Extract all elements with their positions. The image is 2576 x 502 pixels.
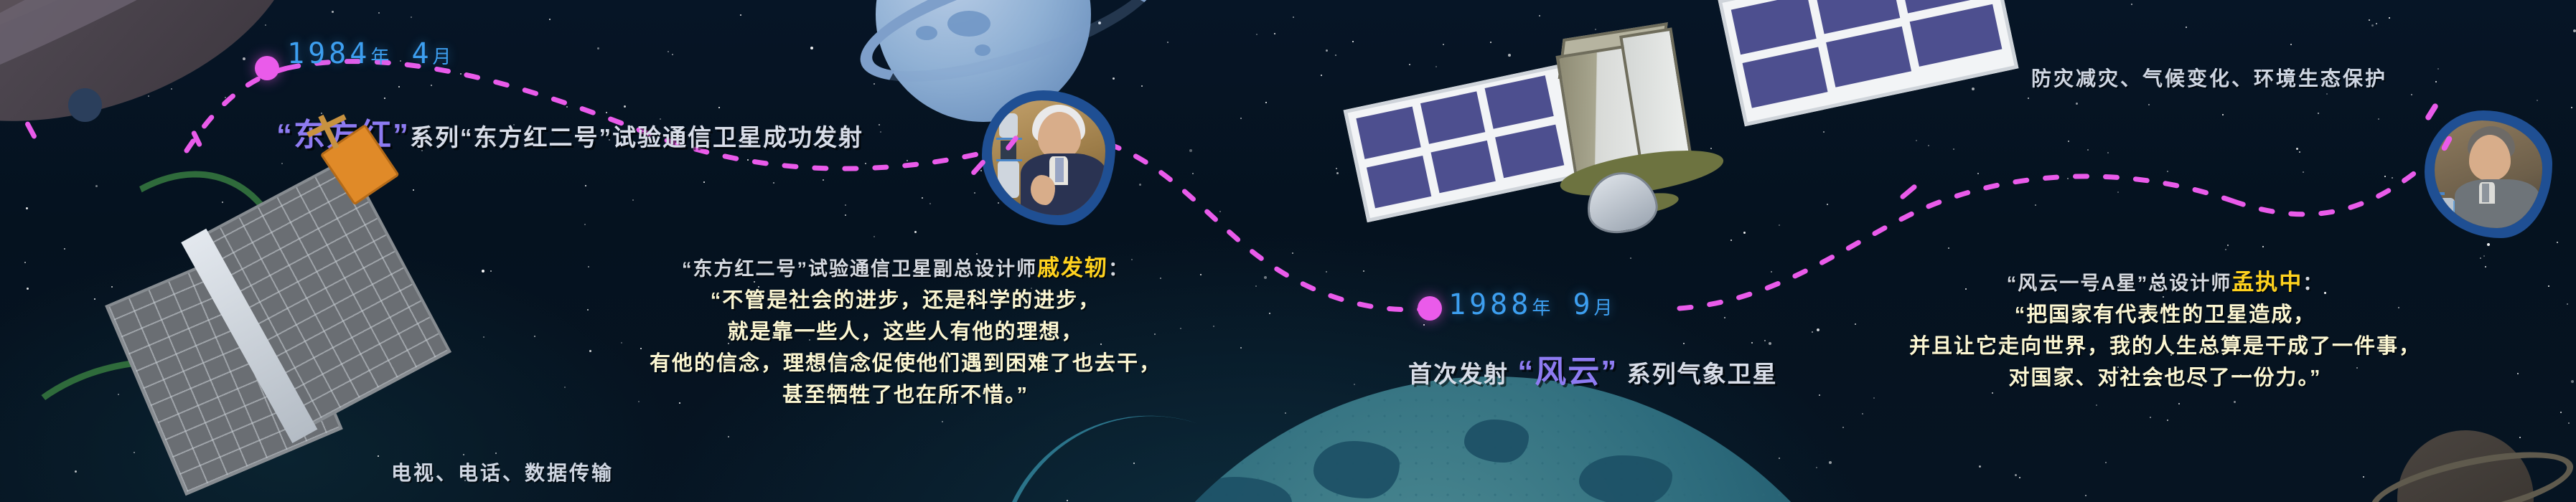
star	[879, 124, 880, 126]
star	[2548, 285, 2549, 287]
quote-line: 有他的信念，理想信念促使他们遇到困难了也去干，	[650, 348, 1161, 379]
quote-block-qi-faren: “东方红二号”试验通信卫星副总设计师戚发轫： “不管是社会的进步，还是科学的进步…	[650, 252, 1161, 411]
star	[1827, 204, 1828, 205]
star	[2290, 44, 2292, 45]
star	[2303, 171, 2304, 173]
quote-line: “把国家有代表性的卫星造成，	[1909, 299, 2421, 331]
person-name: 戚发轫	[1037, 255, 1108, 280]
date-month: 9	[1573, 288, 1593, 321]
headline-rest: 系列气象卫星	[1627, 361, 1778, 387]
star	[584, 224, 586, 225]
star	[431, 85, 432, 86]
date-year-unit: 年	[1532, 298, 1552, 319]
star	[1189, 197, 1190, 199]
star	[2178, 403, 2180, 404]
quote-line: 甚至牺牲了也在所不惜。”	[650, 379, 1161, 411]
star	[2326, 93, 2328, 95]
star	[1979, 465, 1981, 468]
solar-array-left	[1344, 64, 1585, 222]
star	[2167, 420, 2168, 421]
attribution-colon: ：	[2303, 273, 2323, 294]
milestone-1988-caption: 防灾减灾、气候变化、环境生态保护	[2031, 63, 2387, 92]
star	[384, 98, 385, 99]
star	[566, 106, 568, 108]
star	[1265, 102, 1267, 103]
star	[24, 262, 26, 263]
quote-block-meng-zhizhong: “风云一号A星”总设计师孟执中： “把国家有代表性的卫星造成， 并且让它走向世界…	[1909, 267, 2421, 394]
star	[703, 181, 705, 183]
star	[728, 436, 729, 437]
star	[845, 204, 846, 206]
star	[2571, 107, 2572, 108]
star	[1240, 118, 1242, 119]
star	[1769, 342, 1771, 345]
star	[1326, 271, 1327, 273]
star	[1335, 55, 1336, 56]
star	[2296, 148, 2298, 150]
small-ringed-planet	[2376, 409, 2555, 502]
star	[1189, 149, 1192, 152]
timeline-node-1988	[1418, 296, 1442, 321]
star	[2186, 27, 2187, 28]
portrait-qi-faren	[992, 100, 1105, 215]
star	[1269, 313, 1270, 314]
star	[874, 236, 875, 237]
star	[1948, 247, 1949, 249]
star	[378, 455, 379, 457]
star	[64, 248, 65, 250]
star	[2389, 17, 2390, 19]
attribution-colon: ：	[1108, 258, 1129, 280]
quote-attribution-line: “风云一号A星”总设计师孟执中：	[1909, 267, 2421, 299]
star	[2411, 94, 2412, 95]
star	[1240, 347, 1242, 349]
headline-prefix: 首次发射	[1408, 361, 1509, 387]
timeline-node-1984	[255, 56, 279, 80]
date-month: 4	[411, 37, 432, 70]
attribution-text: “风云一号A星”总设计师	[2007, 273, 2232, 294]
infographic-canvas: 1984年 4月 “东方红”系列“东方红二号”试验通信卫星成功发射 电视、电话、…	[0, 0, 2576, 502]
star	[588, 266, 589, 267]
star	[2068, 141, 2069, 142]
milestone-1984-caption: 电视、电话、数据传输	[391, 458, 614, 486]
date-month-unit: 月	[433, 47, 453, 68]
quote-line: “不管是社会的进步，还是科学的进步，	[650, 285, 1161, 316]
attribution-text: “东方红二号”试验通信卫星副总设计师	[682, 258, 1037, 280]
star	[2085, 495, 2086, 496]
star	[95, 185, 98, 187]
star	[1255, 255, 1256, 256]
star	[2148, 104, 2150, 105]
star	[1139, 184, 1141, 186]
star	[2363, 476, 2364, 478]
dark-blue-moon	[68, 88, 102, 122]
milestone-1984-date: 1984年 4月	[287, 37, 453, 70]
star	[672, 54, 673, 55]
milestone-1988-headline: 首次发射 “风云” 系列气象卫星	[1408, 346, 1778, 392]
star	[2096, 404, 2097, 406]
star	[1724, 317, 1725, 318]
star	[1264, 276, 1267, 279]
star	[1630, 257, 1631, 259]
star	[638, 401, 640, 402]
star	[621, 342, 622, 344]
date-year: 1988	[1448, 288, 1532, 321]
solar-array-right	[1718, 0, 2019, 126]
quote-line: 就是靠一些人，这些人有他的理想，	[650, 316, 1161, 348]
star	[980, 170, 982, 171]
milestone-1988-date: 1988年 9月	[1448, 288, 1614, 321]
date-year: 1984	[287, 37, 370, 70]
star	[534, 336, 535, 337]
star	[1255, 285, 1257, 287]
date-year-unit: 年	[370, 47, 390, 68]
headline-rest: 系列“东方红二号”试验通信卫星成功发射	[410, 124, 863, 151]
quote-line: 并且让它走向世界，我的人生总算是干成了一件事，	[1909, 331, 2421, 362]
star	[482, 270, 484, 273]
star	[929, 203, 931, 204]
star	[1292, 252, 1293, 254]
star	[1219, 211, 1221, 212]
star	[865, 163, 866, 164]
star	[773, 182, 774, 184]
star	[2028, 98, 2029, 99]
date-month-unit: 月	[1594, 298, 1614, 319]
quote-attribution-line: “东方红二号”试验通信卫星副总设计师戚发轫：	[650, 252, 1161, 285]
star	[490, 270, 492, 272]
star	[810, 47, 813, 49]
star	[26, 207, 28, 209]
star	[2369, 19, 2370, 21]
star	[624, 105, 626, 108]
star	[1779, 224, 1780, 226]
star	[587, 309, 589, 311]
person-name: 孟执中	[2231, 270, 2303, 295]
star	[2573, 29, 2576, 32]
star	[942, 421, 943, 422]
star	[2222, 114, 2224, 115]
star	[845, 214, 846, 216]
headline-highlight: “风云”	[1517, 354, 1618, 389]
star	[2076, 103, 2078, 105]
star	[1423, 324, 1425, 326]
star	[2105, 462, 2107, 463]
star	[2557, 242, 2558, 243]
quote-line: 对国家、对社会也尽了一份力。”	[1909, 362, 2421, 394]
